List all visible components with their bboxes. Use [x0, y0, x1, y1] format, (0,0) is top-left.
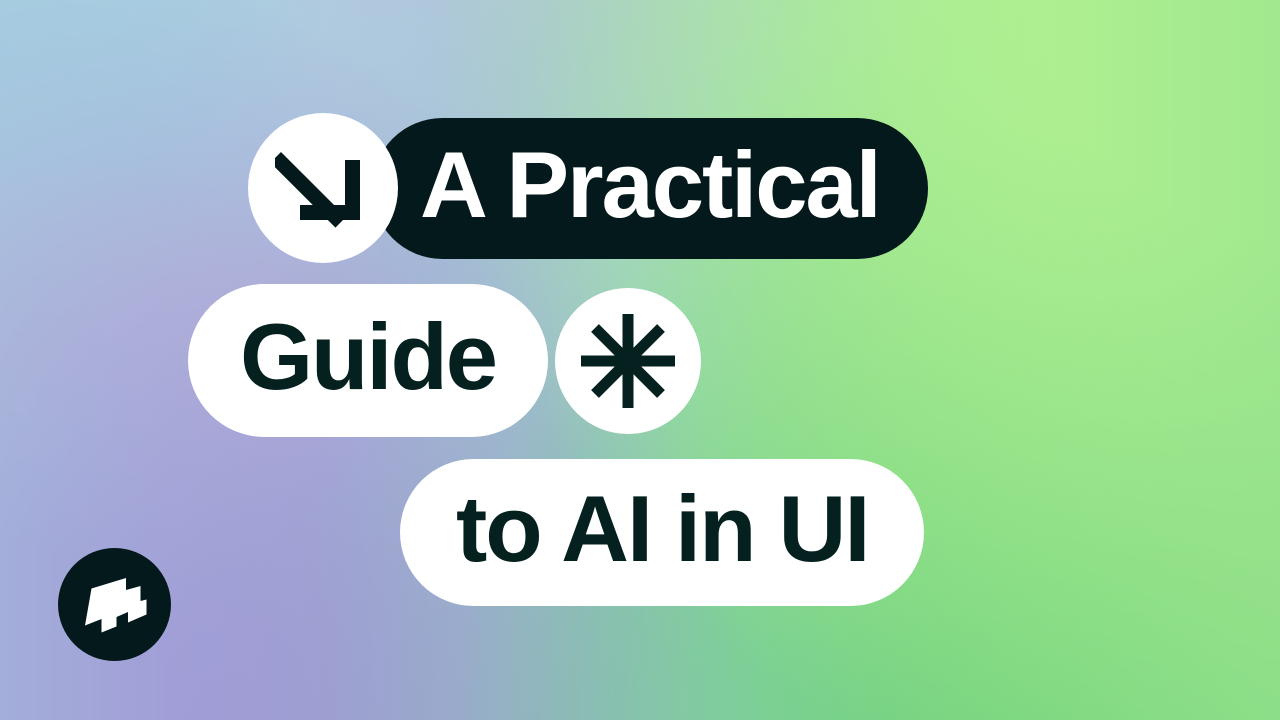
headline-line-3-text: to AI in UI [456, 482, 868, 576]
headline-row-2: Guide [188, 284, 701, 437]
headline-row-3: to AI in UI [400, 459, 924, 606]
headline-pill-1: A Practical [372, 118, 928, 259]
headline-pill-2: Guide [188, 284, 548, 437]
headline-row-1: A Practical [248, 113, 928, 263]
headline-line-1-text: A Practical [420, 138, 880, 232]
asterisk-sparkle-icon [555, 288, 701, 434]
brand-mark-icon [58, 548, 171, 661]
headline-composition: A Practical Guide to AI in UI [0, 0, 1280, 720]
headline-pill-3: to AI in UI [400, 459, 924, 606]
headline-line-2-text: Guide [240, 310, 496, 404]
arrow-down-right-icon [248, 113, 398, 263]
